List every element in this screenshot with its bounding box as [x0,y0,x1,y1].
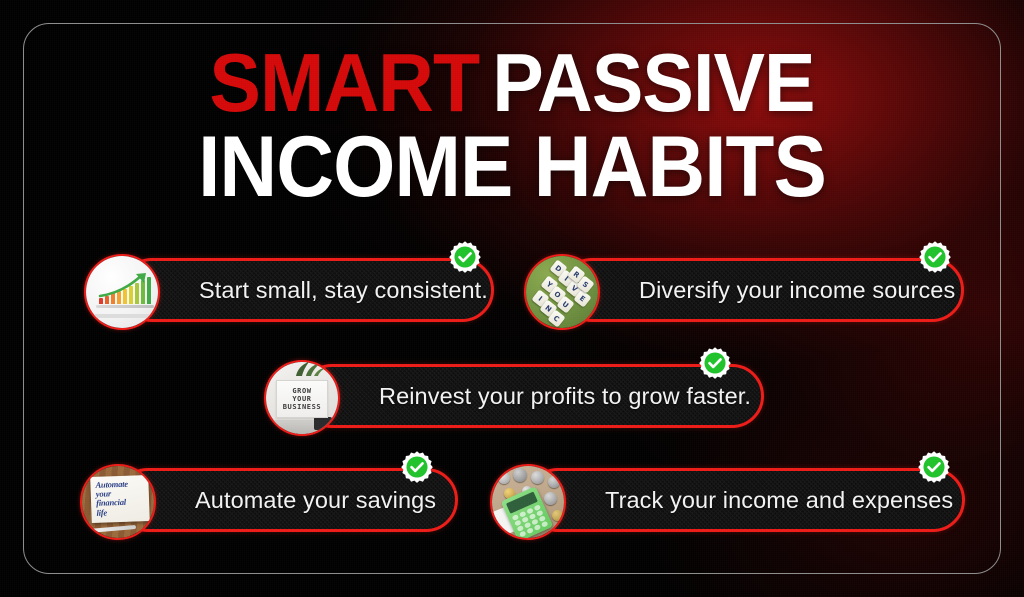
verified-check-icon [698,346,732,380]
infographic-poster: SMARTPASSIVE INCOME HABITS Start small, … [0,0,1024,597]
letterboard-icon: GROW YOUR BUSINESS [264,360,340,436]
habit-item-1[interactable]: Start small, stay consistent. [84,254,494,326]
habit-item-3[interactable]: Reinvest your profits to grow faster. GR… [264,360,764,432]
habit-label-3: Reinvest your profits to grow faster. [379,383,764,410]
rising-arrow-icon [98,272,152,298]
letter-cubes-icon: D I V E Y O U I N C R S [524,254,600,330]
habit-pill-5[interactable]: Track your income and expenses [526,468,965,532]
verified-check-icon [918,240,952,274]
habit-pill-2[interactable]: Diversify your income sources [560,258,964,322]
board-line-1: GROW [292,388,311,395]
habit-label-5: Track your income and expenses [605,487,965,514]
habit-item-5[interactable]: Track your income and expenses [490,464,965,536]
habit-pill-1[interactable]: Start small, stay consistent. [120,258,494,322]
verified-check-icon [400,450,434,484]
habit-item-4[interactable]: Automate your savings Automate your fina… [80,464,458,536]
habit-label-2: Diversify your income sources [639,277,964,304]
habit-list: Start small, stay consistent. [0,0,1024,597]
handwritten-note-icon: Automate your financial life [80,464,156,540]
plant-leaves-icon [292,360,326,376]
board-line-2: YOUR [292,396,311,403]
habit-item-2[interactable]: Diversify your income sources D I V E Y … [524,254,964,326]
habit-label-4: Automate your savings [195,487,458,514]
calculator-coins-icon [490,464,566,540]
growth-chart-icon [84,254,160,330]
habit-pill-3[interactable]: Reinvest your profits to grow faster. [300,364,764,428]
verified-check-icon [917,450,951,484]
habit-label-1: Start small, stay consistent. [199,277,494,304]
board-line-3: BUSINESS [283,404,322,411]
note-paper: Automate your financial life [90,475,150,523]
letterboard-text: GROW YOUR BUSINESS [276,380,328,418]
note-line-4: life [96,507,144,518]
verified-check-icon [448,240,482,274]
